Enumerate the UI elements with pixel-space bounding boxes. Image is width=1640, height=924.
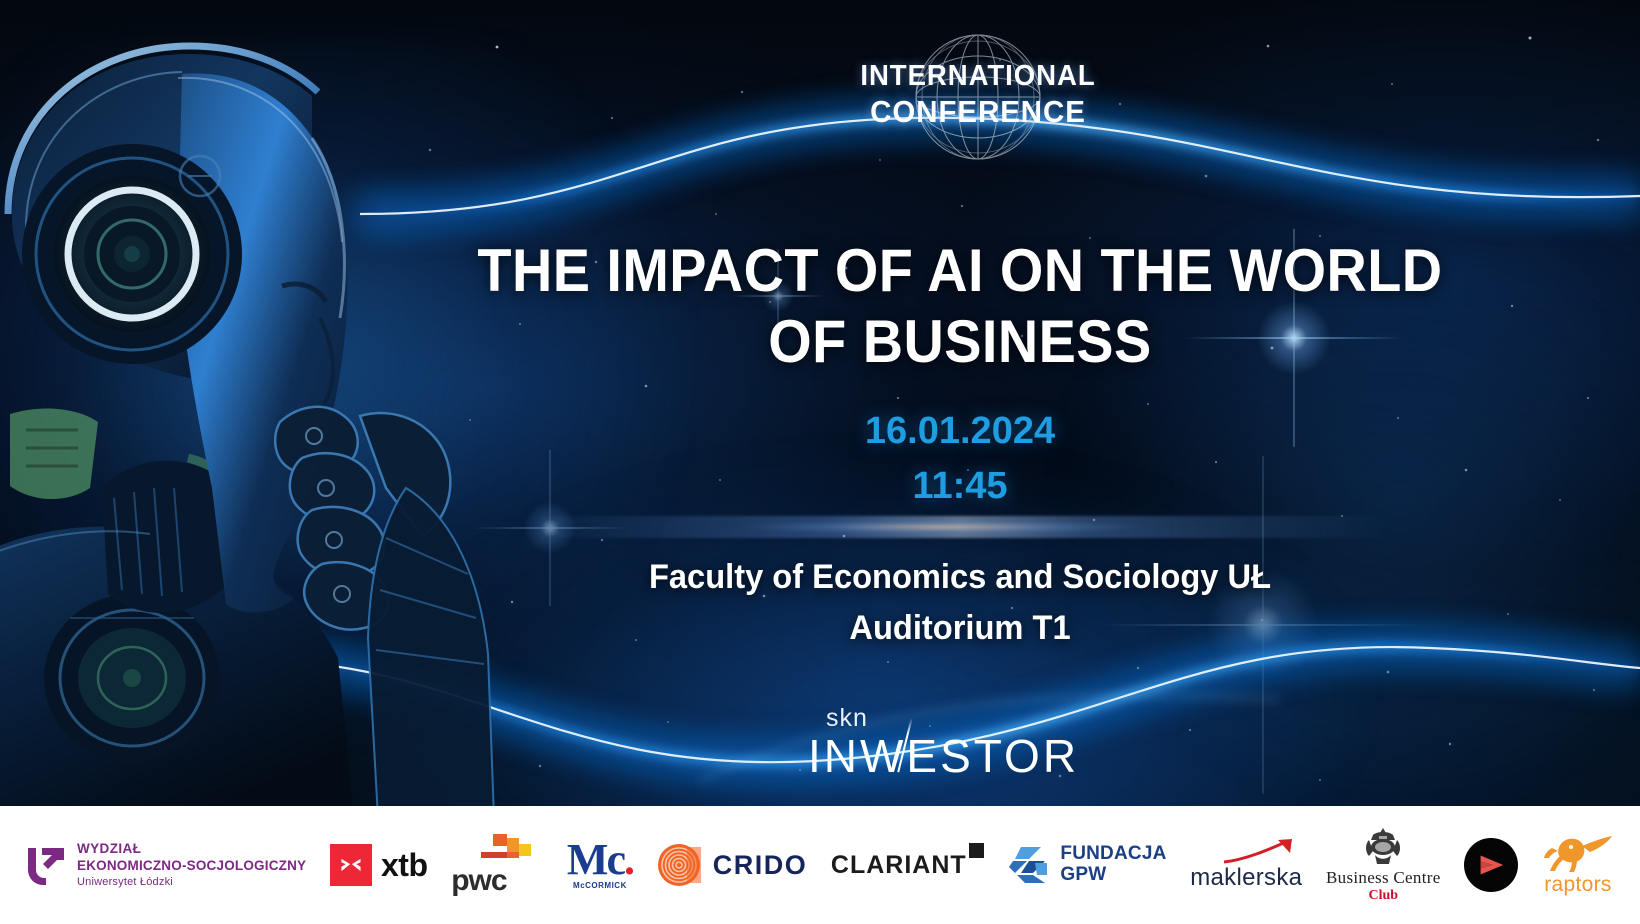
pwc-mark-icon (479, 832, 543, 862)
event-datetime: 16.01.2024 11:45 (430, 404, 1490, 514)
xtb-mark-icon (330, 844, 372, 886)
venue-line2: Auditorium T1 (451, 603, 1469, 654)
sponsor-bcc-line2: Club (1368, 888, 1398, 904)
sponsor-crido[interactable]: CRIDO (657, 823, 808, 907)
maklerska-arrow-icon (1222, 838, 1300, 864)
sponsor-xtb-label: xtb (381, 847, 428, 884)
sponsor-bcc-line1: Business Centre (1326, 868, 1441, 888)
mccormick-accent-dot: . (624, 835, 633, 884)
sponsor-maklerska[interactable]: maklerska (1190, 823, 1302, 907)
sponsor-mccormick[interactable]: Mc. McCORMICK (567, 823, 633, 907)
sponsor-pwc[interactable]: pwc (451, 823, 543, 907)
mccormick-mark-icon: Mc. (567, 840, 633, 880)
organizer-name-text: INWESTOR (808, 730, 1079, 782)
sponsor-clariant[interactable]: CLARIANT (831, 823, 984, 907)
sponsor-fundacja-gpw[interactable]: FUNDACJA GPW (1007, 823, 1166, 907)
event-time: 11:45 (430, 459, 1490, 514)
page-title: THE IMPACT OF AI ON THE WORLD OF BUSINES… (467, 236, 1453, 378)
sponsor-xtb[interactable]: xtb (330, 823, 428, 907)
sponsor-business-centre-club[interactable]: Business Centre Club (1326, 823, 1441, 907)
conference-logo: INTERNATIONAL CONFERENCE (838, 22, 1118, 172)
sponsor-bar: WYDZIAŁ EKONOMICZNO-SOCJOLOGICZNY Uniwer… (0, 806, 1640, 924)
bcc-crest-icon (1361, 826, 1405, 866)
organizer-name: INWESTOR (808, 733, 1138, 779)
venue-line1: Faculty of Economics and Sociology UŁ (451, 552, 1469, 603)
sponsor-clariant-label: CLARIANT (831, 851, 967, 880)
play-button-icon (1464, 838, 1518, 892)
crido-spiral-icon (657, 843, 701, 887)
conference-logo-line1: INTERNATIONAL (845, 62, 1111, 92)
clariant-square-icon (969, 843, 984, 858)
organizer-logo: skn INWESTOR (808, 706, 1138, 786)
sponsor-mccormick-label: Mc (567, 835, 624, 884)
sponsor-wydzial-ekonomiczno-socjologiczny[interactable]: WYDZIAŁ EKONOMICZNO-SOCJOLOGICZNY Uniwer… (26, 823, 306, 907)
sponsor-crido-label: CRIDO (713, 850, 808, 881)
sponsor-maklerska-label: maklerska (1190, 864, 1302, 892)
raptor-dinosaur-icon (1542, 834, 1614, 874)
sponsor-gpw-line1: FUNDACJA (1060, 844, 1166, 865)
conference-logo-line2: CONFERENCE (845, 96, 1111, 128)
sponsor-gpw-line2: GPW (1060, 865, 1166, 886)
sponsor-wes-line2: EKONOMICZNO-SOCJOLOGICZNY (77, 858, 306, 875)
glow-divider (530, 516, 1390, 538)
event-venue: Faculty of Economics and Sociology UŁ Au… (451, 552, 1469, 654)
uni-lodz-arrow-icon (26, 845, 66, 885)
sponsor-raptors[interactable]: raptors (1542, 823, 1614, 907)
organizer-prefix: skn (826, 706, 1138, 731)
sponsor-wes-line1: WYDZIAŁ (77, 841, 306, 858)
sponsor-wes-line3: Uniwersytet Łódzki (77, 876, 306, 890)
sponsor-pwc-label: pwc (451, 864, 506, 898)
sponsor-raptors-label: raptors (1544, 873, 1611, 897)
gpw-cube-icon (1007, 843, 1051, 887)
conference-logo-text: INTERNATIONAL CONFERENCE (838, 62, 1118, 127)
event-date: 16.01.2024 (430, 404, 1490, 459)
conference-poster: INTERNATIONAL CONFERENCE THE IMPACT OF A… (0, 0, 1640, 924)
sponsor-play-media[interactable] (1464, 823, 1518, 907)
